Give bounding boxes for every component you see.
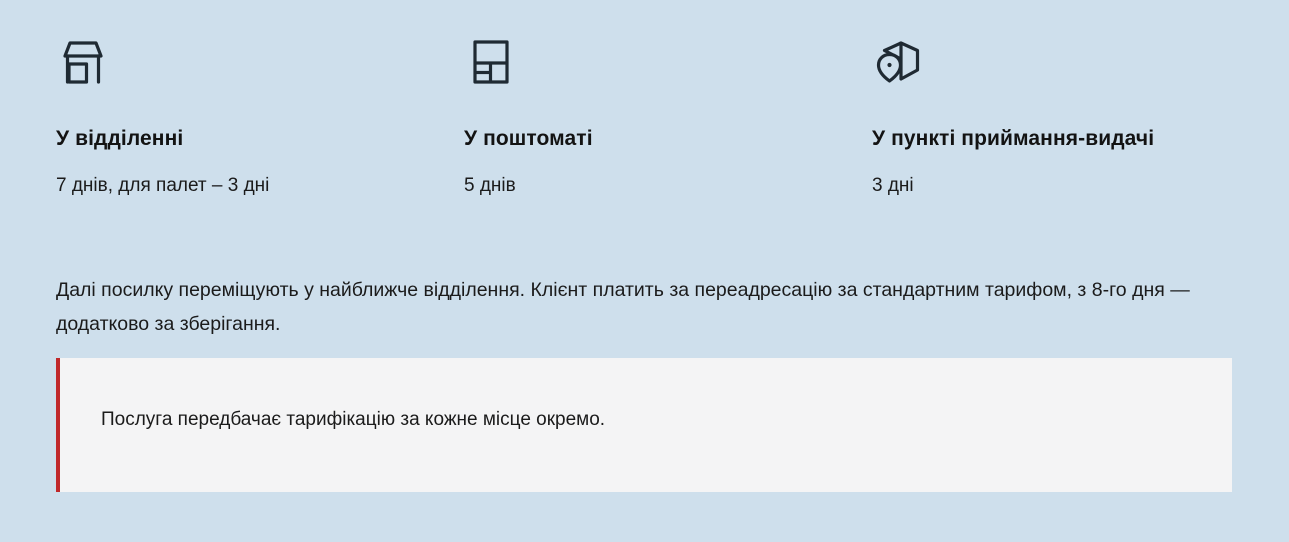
storage-location-duration: 5 днів [464, 174, 872, 198]
storage-locations-row: У відділенні 7 днів, для палет – 3 дні У… [56, 38, 1256, 198]
storage-location-duration: 3 дні [872, 174, 1280, 198]
content-page: У відділенні 7 днів, для палет – 3 дні У… [0, 0, 1289, 542]
parcel-pickup-point-icon [872, 38, 1280, 88]
storage-location-card-pickup-point: У пункті приймання-видачі 3 дні [872, 38, 1280, 198]
storefront-icon [56, 38, 464, 88]
parcel-locker-icon [464, 38, 872, 88]
storage-location-title: У пункті приймання-видачі [872, 126, 1280, 152]
storage-location-card-branch: У відділенні 7 днів, для палет – 3 дні [56, 38, 464, 198]
note-callout-text: Послуга передбачає тарифікацію за кожне … [101, 406, 605, 434]
storage-location-duration: 7 днів, для палет – 3 дні [56, 174, 464, 198]
storage-location-title: У відділенні [56, 126, 464, 152]
description-paragraph: Далі посилку переміщують у найближче від… [56, 273, 1236, 341]
storage-location-card-locker: У поштоматі 5 днів [464, 38, 872, 198]
storage-location-title: У поштоматі [464, 126, 872, 152]
note-callout: Послуга передбачає тарифікацію за кожне … [56, 358, 1232, 492]
